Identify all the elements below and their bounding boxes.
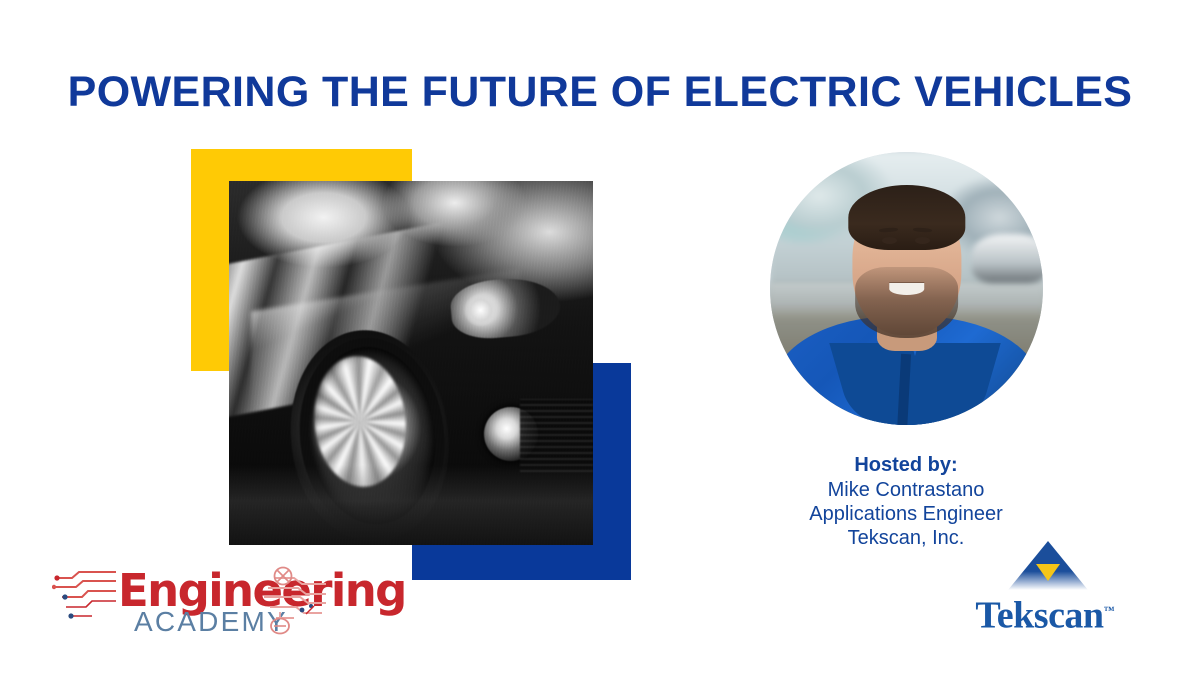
avatar [770, 152, 1043, 425]
circuit-trace-right-icon [250, 566, 328, 638]
headshot-beard [855, 267, 959, 338]
tekscan-wordmark-text: Tekscan [975, 595, 1103, 637]
speaker-name: Mike Contrastano [760, 478, 1052, 502]
headshot-hair [848, 185, 965, 251]
tekscan-trademark-symbol: ™ [1104, 605, 1115, 617]
car-photo [229, 181, 593, 545]
tekscan-triangle-icon [1006, 538, 1090, 594]
page-title: POWERING THE FUTURE OF ELECTRIC VEHICLES [0, 68, 1200, 117]
headshot-eye-right [915, 237, 930, 244]
speaker-info: Hosted by: Mike Contrastano Applications… [760, 452, 1052, 550]
car-photo-grain [229, 181, 593, 545]
tekscan-logo: Tekscan™ [960, 538, 1130, 634]
headshot-eye-left [882, 237, 897, 244]
engineering-academy-logo: Engineering ACADEMY [52, 566, 327, 644]
webinar-title-slide: POWERING THE FUTURE OF ELECTRIC VEHICLES [0, 0, 1200, 675]
hosted-by-label: Hosted by: [760, 452, 1052, 478]
circuit-trace-left-icon [52, 570, 122, 622]
tekscan-wordmark: Tekscan™ [960, 590, 1130, 637]
headshot-background-car [972, 234, 1043, 283]
speaker-role: Applications Engineer [760, 502, 1052, 526]
